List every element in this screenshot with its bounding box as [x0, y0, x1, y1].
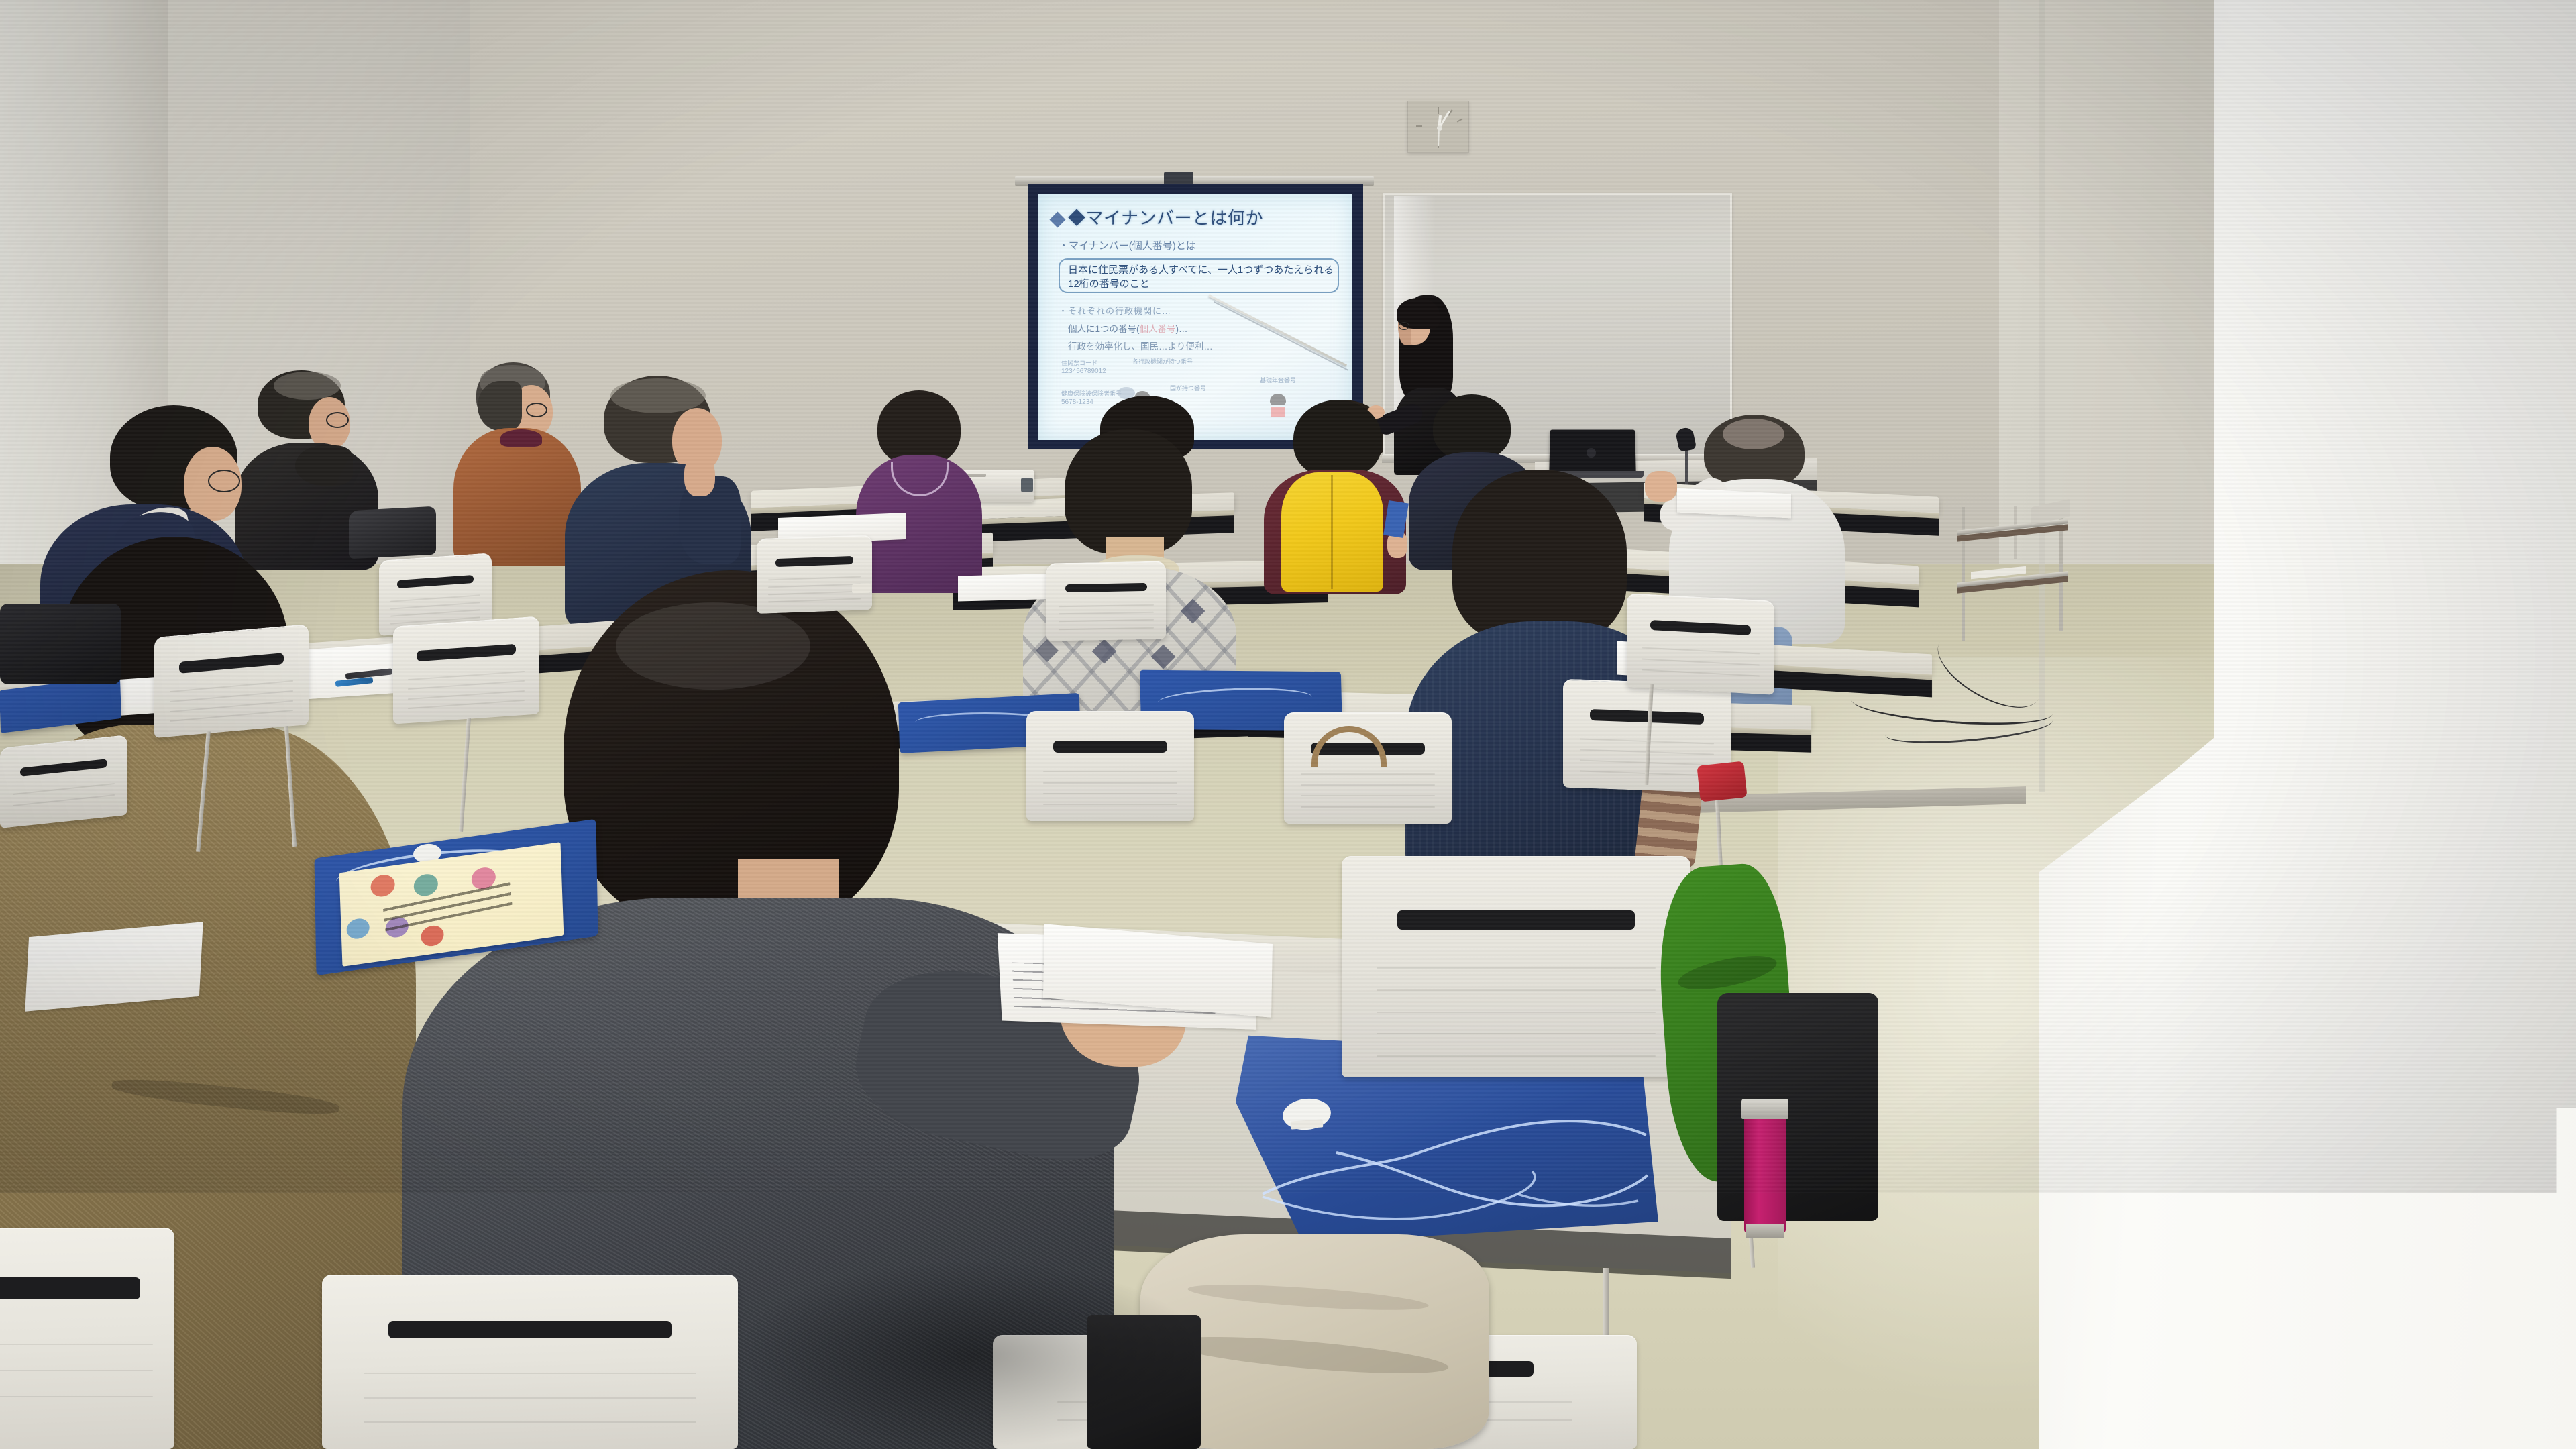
backpack-left-desk — [349, 506, 436, 559]
slide-title: ◆マイナンバーとは何か — [1052, 205, 1263, 229]
clock-center — [1437, 125, 1442, 131]
chair-front-right[interactable] — [1342, 856, 1690, 1077]
hair-side — [478, 381, 522, 431]
glasses-icon — [526, 402, 547, 417]
chair-back-far-left[interactable] — [0, 735, 127, 828]
slide-bullet-2: ・それぞれの行政機関に… — [1059, 304, 1171, 317]
slide-bullet-3: 個人に1つの番号(個人番号)… — [1068, 321, 1188, 335]
right-wall-corner — [2039, 0, 2045, 792]
chair-mid-center-2[interactable] — [1284, 712, 1452, 824]
attendee-yellow-vest — [1261, 400, 1409, 594]
chair-back-left-2[interactable] — [757, 535, 872, 614]
laptop-logo — [1587, 448, 1596, 458]
eraser-mid — [852, 584, 871, 594]
seminar-room-photo: ◆マイナンバーとは何か ・マイナンバー(個人番号)とは 日本に住民票がある人すべ… — [0, 0, 2576, 1449]
slide-small-number-2: 5678-1234 — [1061, 398, 1093, 407]
vest-seam — [1331, 475, 1333, 589]
leaflet-dot-6 — [421, 924, 444, 948]
hand — [684, 455, 715, 496]
slide-highlight-box: 日本に住民票がある人すべてに、一人1つずつあたえられる 12桁の番号のこと — [1059, 258, 1339, 293]
pointer-stick — [1209, 294, 1347, 366]
chair-mid-left-2[interactable] — [393, 616, 539, 724]
wall-clock — [1407, 101, 1469, 153]
slide-bullet-1: ・マイナンバー(個人番号)とは — [1059, 238, 1196, 252]
pink-thermos — [1744, 1112, 1786, 1233]
thermos-base — [1746, 1224, 1784, 1238]
clock-second-hand — [1438, 128, 1440, 146]
bag-under-desk-left — [0, 604, 121, 684]
glasses-icon — [208, 470, 240, 492]
slide-small-label-3: 基礎年金番号 — [1260, 376, 1296, 384]
chair-mid-center-1[interactable] — [1026, 711, 1194, 821]
hair — [1433, 394, 1511, 460]
slide-box-line-1: 日本に住民票がある人すべてに、一人1つずつあたえられる — [1068, 263, 1336, 278]
glasses-icon — [326, 412, 349, 428]
slide-small-label-4: 各行政機関が持つ番号 — [1132, 358, 1193, 366]
chair-mid-left-1[interactable] — [154, 624, 309, 738]
hair — [1065, 429, 1192, 554]
chair-front-far-left[interactable] — [0, 1228, 174, 1449]
hair-grey — [274, 372, 341, 400]
hair-shine — [616, 602, 810, 690]
paper-left-desk — [25, 922, 203, 1012]
pointer-stick-shadow — [1214, 301, 1348, 371]
floor-shadow-center — [738, 1261, 1207, 1449]
slide-small-note: 国が持つ番号 — [1170, 384, 1206, 392]
hair — [1293, 400, 1382, 478]
chair-back-center[interactable] — [1046, 561, 1166, 641]
av-cart — [1957, 503, 2072, 644]
leaflet-dot-4 — [346, 917, 370, 941]
attendee-purple-top — [852, 390, 986, 592]
leaflet-dot-1 — [370, 873, 395, 898]
chair-front-left[interactable] — [322, 1275, 738, 1449]
slide-box-line-2: 12桁の番号のこと — [1068, 277, 1336, 292]
slide-small-number-1: 123456789012 — [1061, 367, 1106, 376]
red-object-right — [1697, 761, 1747, 802]
slide-small-label-1: 住民票コード — [1061, 359, 1097, 367]
instructor-glasses — [1399, 322, 1409, 330]
thermos-cap — [1741, 1099, 1788, 1119]
slide-bullet-4: 行政を効率化し、国民…より便利… — [1068, 339, 1213, 352]
diamond-bullet-icon — [1049, 211, 1065, 227]
scarf — [295, 445, 353, 486]
collar — [500, 429, 542, 447]
hair-bald-spot — [1723, 419, 1784, 449]
hair — [1452, 470, 1627, 643]
leaflet-title-text — [382, 878, 512, 931]
slide-small-label-2: 健康保険被保険者番号 — [1061, 390, 1122, 398]
chair-far-right-1[interactable] — [1627, 593, 1774, 695]
